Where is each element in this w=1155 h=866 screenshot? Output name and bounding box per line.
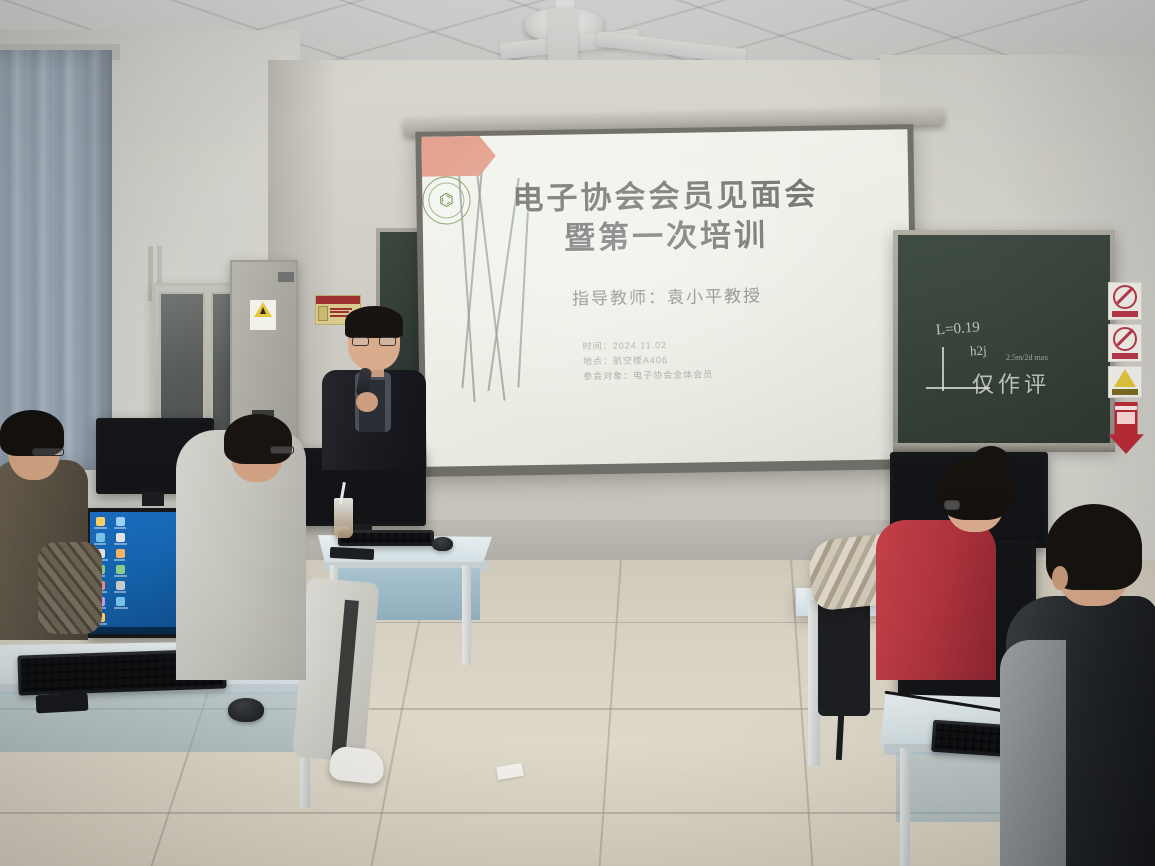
glasses-icon — [352, 337, 396, 346]
drink-cup[interactable] — [334, 498, 353, 538]
projector-screen-surface: ⌬ 电子协会会员见面会 暨第一次培训 指导教师：袁小平教授 时间：2024.11… — [421, 129, 912, 467]
cabinet-badge — [278, 272, 294, 282]
classroom-photo: ⌬ 电子协会会员见面会 暨第一次培训 指导教师：袁小平教授 时间：2024.11… — [0, 0, 1155, 866]
student-ear — [1052, 566, 1068, 590]
monitor-stand — [142, 492, 164, 506]
student-shoulder — [1000, 640, 1066, 866]
high-voltage-warning-icon — [250, 300, 276, 330]
prohibition-icon — [1113, 327, 1137, 351]
safety-sign-column — [1108, 282, 1148, 452]
ceiling-fan-blade — [548, 8, 578, 68]
phone-on-desk[interactable] — [330, 547, 375, 560]
chalk-text-small: 2.5m/2d max — [1006, 353, 1048, 362]
slide-accent-arrow — [421, 136, 496, 177]
slide-meta-block: 时间：2024.11.02 地点：航空楼A406 参会对象：电子协会全体会员 — [583, 337, 714, 384]
blackboard-surface: L=0.19 h2j 2.5m/2d max 仅作评 — [898, 235, 1110, 443]
slide-title-line-2: 暨第一次培训 — [423, 207, 910, 260]
presenter-hand — [356, 392, 378, 412]
chalk-text-chinese: 仅作评 — [972, 367, 1050, 399]
sign-label-bar — [1112, 389, 1138, 395]
fire-hazard-warning-sign — [1108, 366, 1142, 398]
student-hair — [224, 414, 292, 464]
chalk-text-formula: L=0.19 — [935, 319, 980, 339]
presenter-hair — [345, 306, 403, 338]
glasses-icon — [944, 500, 960, 510]
chalk-stroke — [926, 387, 990, 389]
glasses-icon — [32, 448, 64, 456]
warning-triangle-icon — [1114, 369, 1136, 387]
no-smoking-sign — [1108, 324, 1142, 362]
prohibition-icon — [1113, 285, 1137, 309]
chalk-text-note: h2j — [970, 343, 987, 360]
sign-label-bar — [1112, 353, 1138, 359]
blackboard-frame: L=0.19 h2j 2.5m/2d max 仅作评 — [893, 230, 1115, 448]
sign-label-bar — [1112, 311, 1138, 317]
no-open-flame-sign — [1108, 282, 1142, 320]
desk-leg — [900, 748, 910, 866]
phone-front-left[interactable] — [36, 693, 89, 714]
mouse-front-left[interactable] — [228, 698, 264, 722]
mouse-center[interactable] — [432, 537, 453, 551]
desk-leg — [462, 565, 471, 665]
slide-meta-audience: 参会对象：电子协会全体会员 — [583, 367, 713, 384]
window-curtain — [0, 50, 112, 470]
student-sleeve — [38, 542, 102, 634]
slide-subtitle: 指导教师：袁小平教授 — [424, 279, 910, 312]
student-hair-bun — [972, 446, 1010, 478]
fire-extinguisher-arrow-sign — [1108, 402, 1144, 454]
student-torso — [876, 520, 996, 680]
chalk-stroke — [942, 347, 944, 391]
glasses-icon — [270, 446, 294, 454]
